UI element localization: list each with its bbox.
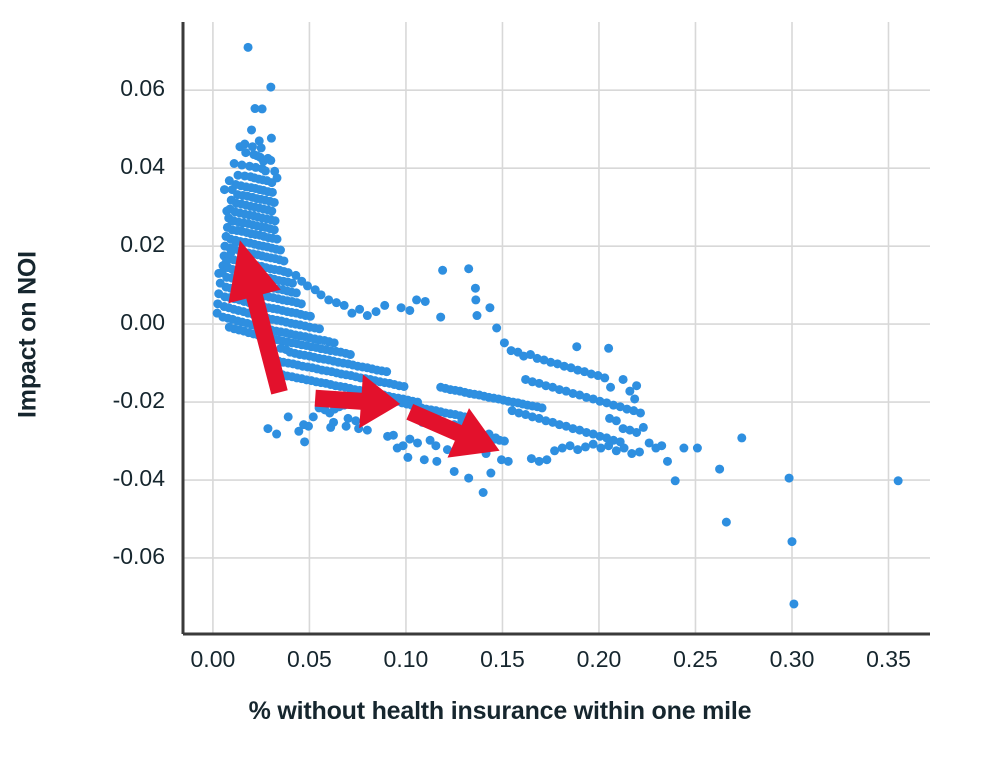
- data-point: [258, 104, 267, 113]
- data-point: [572, 342, 581, 351]
- data-point: [389, 431, 398, 440]
- data-point: [722, 518, 731, 527]
- data-point: [612, 416, 621, 425]
- data-point: [213, 309, 222, 318]
- data-point: [426, 436, 435, 445]
- y-axis-title: Impact on NOI: [14, 235, 43, 435]
- y-tick-label: 0.04: [45, 153, 165, 180]
- data-point: [604, 344, 613, 353]
- data-point: [270, 225, 279, 234]
- data-point: [329, 418, 338, 427]
- data-point: [306, 312, 315, 321]
- chart-figure: 0.000.050.100.150.200.250.300.35 0.060.0…: [0, 0, 1000, 775]
- data-point: [231, 238, 240, 247]
- data-point: [248, 142, 257, 151]
- data-point: [355, 305, 364, 314]
- data-point: [372, 307, 381, 316]
- data-point: [479, 488, 488, 497]
- data-point: [663, 457, 672, 466]
- data-point: [504, 457, 513, 466]
- data-point: [542, 455, 551, 464]
- data-point: [405, 306, 414, 315]
- data-point: [485, 303, 494, 312]
- data-point: [538, 403, 547, 412]
- data-point: [222, 207, 231, 216]
- data-point: [363, 426, 372, 435]
- data-point: [527, 454, 536, 463]
- data-point: [267, 207, 276, 216]
- data-point: [558, 444, 567, 453]
- data-point: [639, 423, 648, 432]
- data-point: [257, 143, 266, 152]
- data-point: [300, 437, 309, 446]
- data-point: [279, 256, 288, 265]
- data-point: [500, 338, 509, 347]
- data-point: [535, 457, 544, 466]
- data-point: [472, 311, 481, 320]
- data-point: [347, 309, 356, 318]
- data-point: [230, 159, 239, 168]
- data-point: [351, 416, 360, 425]
- data-point: [679, 444, 688, 453]
- data-point: [450, 467, 459, 476]
- y-tick-label: -0.06: [45, 543, 165, 570]
- data-point: [344, 414, 353, 423]
- data-point: [273, 235, 282, 244]
- data-point: [213, 299, 222, 308]
- data-point: [566, 441, 575, 450]
- data-point: [471, 295, 480, 304]
- data-point: [412, 295, 421, 304]
- data-point: [589, 440, 598, 449]
- data-point: [266, 156, 275, 165]
- data-point: [581, 442, 590, 451]
- data-point: [464, 474, 473, 483]
- data-point: [266, 83, 275, 92]
- data-point: [620, 444, 629, 453]
- data-point: [346, 350, 355, 359]
- data-point: [324, 295, 333, 304]
- data-point: [400, 382, 409, 391]
- data-point: [596, 444, 605, 453]
- data-point: [297, 299, 306, 308]
- y-tick-label: 0.00: [45, 309, 165, 336]
- data-point: [263, 424, 272, 433]
- data-point: [292, 288, 301, 297]
- data-point: [284, 268, 293, 277]
- data-point: [227, 216, 236, 225]
- data-point: [270, 198, 279, 207]
- data-point: [288, 279, 297, 288]
- data-point: [630, 394, 639, 403]
- data-point: [627, 449, 636, 458]
- data-point: [220, 185, 229, 194]
- data-point: [606, 383, 615, 392]
- data-point: [268, 188, 277, 197]
- data-point: [715, 465, 724, 474]
- data-point: [657, 441, 666, 450]
- data-point: [273, 173, 282, 182]
- data-point: [635, 447, 644, 456]
- data-point: [604, 441, 613, 450]
- y-tick-label: -0.02: [45, 387, 165, 414]
- data-point: [315, 324, 324, 333]
- data-point: [600, 373, 609, 382]
- y-tick-label: 0.02: [45, 231, 165, 258]
- data-point: [330, 338, 339, 347]
- data-point: [405, 435, 414, 444]
- data-point: [271, 216, 280, 225]
- data-point: [787, 537, 796, 546]
- data-point: [244, 43, 253, 52]
- data-point: [272, 430, 281, 439]
- data-point: [225, 176, 234, 185]
- data-point: [432, 457, 441, 466]
- data-point: [397, 303, 406, 312]
- data-point: [380, 301, 389, 310]
- data-point: [693, 444, 702, 453]
- data-point: [340, 301, 349, 310]
- data-point: [311, 285, 320, 294]
- data-point: [214, 289, 223, 298]
- data-point: [342, 422, 351, 431]
- data-point: [281, 345, 290, 354]
- data-point: [222, 257, 231, 266]
- data-point: [276, 246, 285, 255]
- data-point: [304, 422, 313, 431]
- data-point: [332, 298, 341, 307]
- data-point: [227, 247, 236, 256]
- x-tick-label: 0.35: [829, 646, 949, 673]
- data-point: [267, 134, 276, 143]
- data-point: [363, 311, 372, 320]
- data-point: [486, 469, 495, 478]
- data-point: [612, 446, 621, 455]
- data-point: [413, 438, 422, 447]
- data-point: [785, 474, 794, 483]
- data-point: [438, 266, 447, 275]
- data-point: [550, 446, 559, 455]
- data-point: [309, 412, 318, 421]
- data-point: [471, 284, 480, 293]
- data-point: [291, 271, 300, 280]
- data-point: [403, 453, 412, 462]
- data-point: [421, 297, 430, 306]
- data-point-group: [213, 43, 903, 609]
- data-point: [492, 324, 501, 333]
- x-axis-title: % without health insurance within one mi…: [0, 697, 1000, 726]
- data-point: [237, 161, 246, 170]
- data-point: [573, 445, 582, 454]
- data-point: [218, 268, 227, 277]
- data-point: [236, 226, 245, 235]
- data-point: [619, 375, 628, 384]
- data-point: [500, 437, 509, 446]
- data-point: [284, 412, 293, 421]
- data-point: [737, 433, 746, 442]
- data-point: [240, 140, 249, 149]
- data-point: [894, 476, 903, 485]
- y-tick-label: -0.04: [45, 465, 165, 492]
- data-point: [636, 408, 645, 417]
- data-point: [216, 279, 225, 288]
- data-point: [382, 367, 391, 376]
- data-point: [671, 476, 680, 485]
- y-tick-label: 0.06: [45, 75, 165, 102]
- data-point: [436, 313, 445, 322]
- data-point: [464, 264, 473, 273]
- data-point: [247, 125, 256, 134]
- data-point: [261, 166, 270, 175]
- data-point: [789, 599, 798, 608]
- data-point: [420, 455, 429, 464]
- data-point: [632, 381, 641, 390]
- data-point: [393, 444, 402, 453]
